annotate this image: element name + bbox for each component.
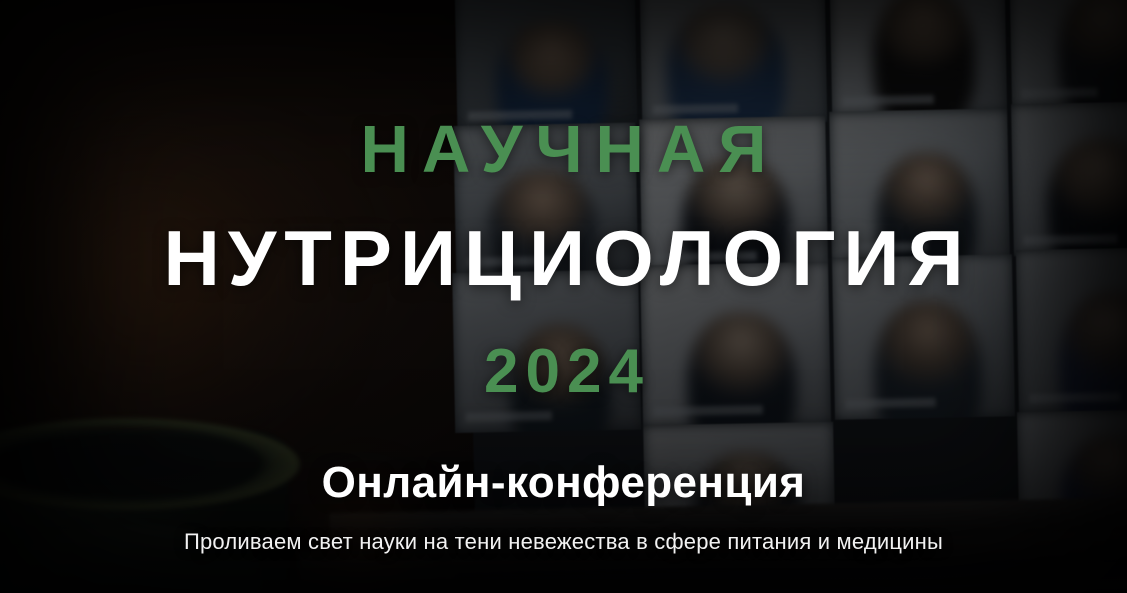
event-tagline: Проливаем свет науки на тени невежества … <box>184 531 943 553</box>
event-format-label: Онлайн-конференция <box>322 461 806 505</box>
headline-line-scientific: НАУЧНАЯ <box>348 116 780 183</box>
headline-line-nutrition: НУТРИЦИОЛОГИЯ <box>155 219 971 297</box>
hero-content: НАУЧНАЯ НУТРИЦИОЛОГИЯ 2024 Онлайн-конфер… <box>0 0 1127 593</box>
conference-hero-banner: НАУЧНАЯ НУТРИЦИОЛОГИЯ 2024 Онлайн-конфер… <box>0 0 1127 593</box>
headline-year: 2024 <box>477 341 650 403</box>
